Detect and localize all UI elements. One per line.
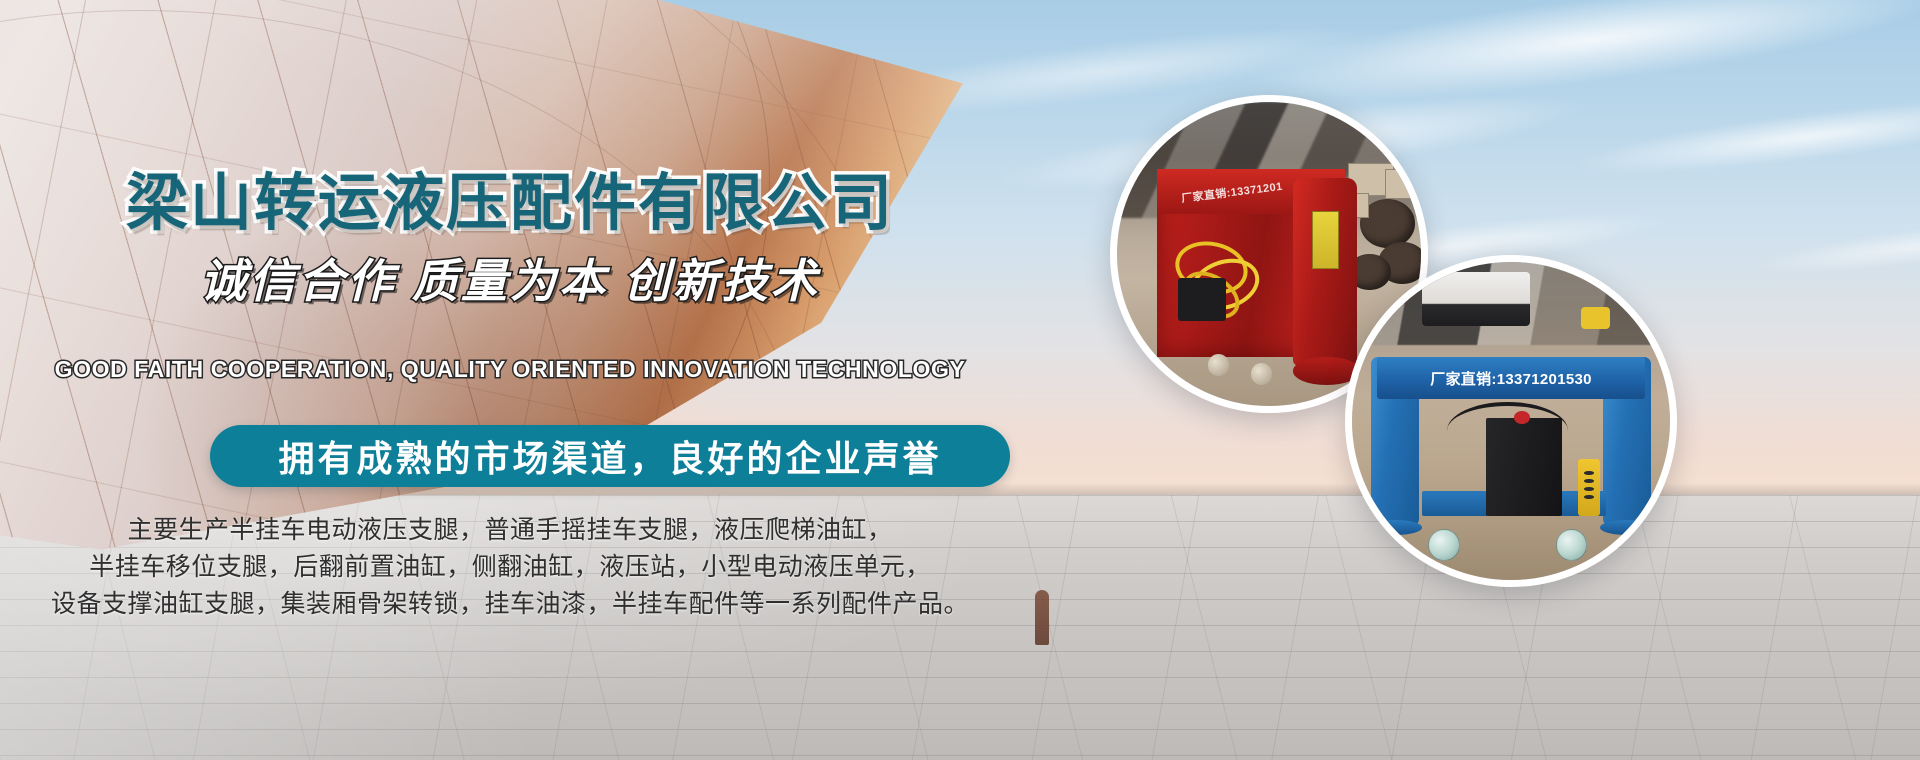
highlight-pill: 拥有成熟的市场渠道，良好的企业声誉	[210, 425, 1010, 487]
sculpture-fin	[1035, 590, 1049, 645]
product-photo-blue-unit[interactable]: 厂家直销:13371201530	[1345, 255, 1677, 587]
description-line-1: 主要生产半挂车电动液压支腿，普通手摇挂车支腿，液压爬梯油缸，	[0, 512, 1020, 549]
highlight-pill-text: 拥有成熟的市场渠道，良好的企业声誉	[278, 430, 941, 482]
company-title: 梁山转运液压配件有限公司	[0, 152, 1020, 242]
description-line-2: 半挂车移位支腿，后翻前置油缸，侧翻油缸，液压站，小型电动液压单元，	[0, 549, 1020, 586]
description-line-3: 设备支撑油缸支腿，集装厢骨架转锁，挂车油漆，半挂车配件等一系列配件产品。	[0, 586, 1020, 623]
slogan-chinese: 诚信合作 质量为本 创新技术	[0, 245, 1020, 311]
hero-banner: 梁山转运液压配件有限公司 诚信合作 质量为本 创新技术 GOOD FAITH C…	[0, 0, 1920, 760]
blue-unit-caption: 厂家直销:13371201530	[1377, 357, 1644, 398]
slogan-english: GOOD FAITH COOPERATION, QUALITY ORIENTED…	[0, 356, 1020, 383]
product-description: 主要生产半挂车电动液压支腿，普通手摇挂车支腿，液压爬梯油缸， 半挂车移位支腿，后…	[0, 512, 1020, 623]
